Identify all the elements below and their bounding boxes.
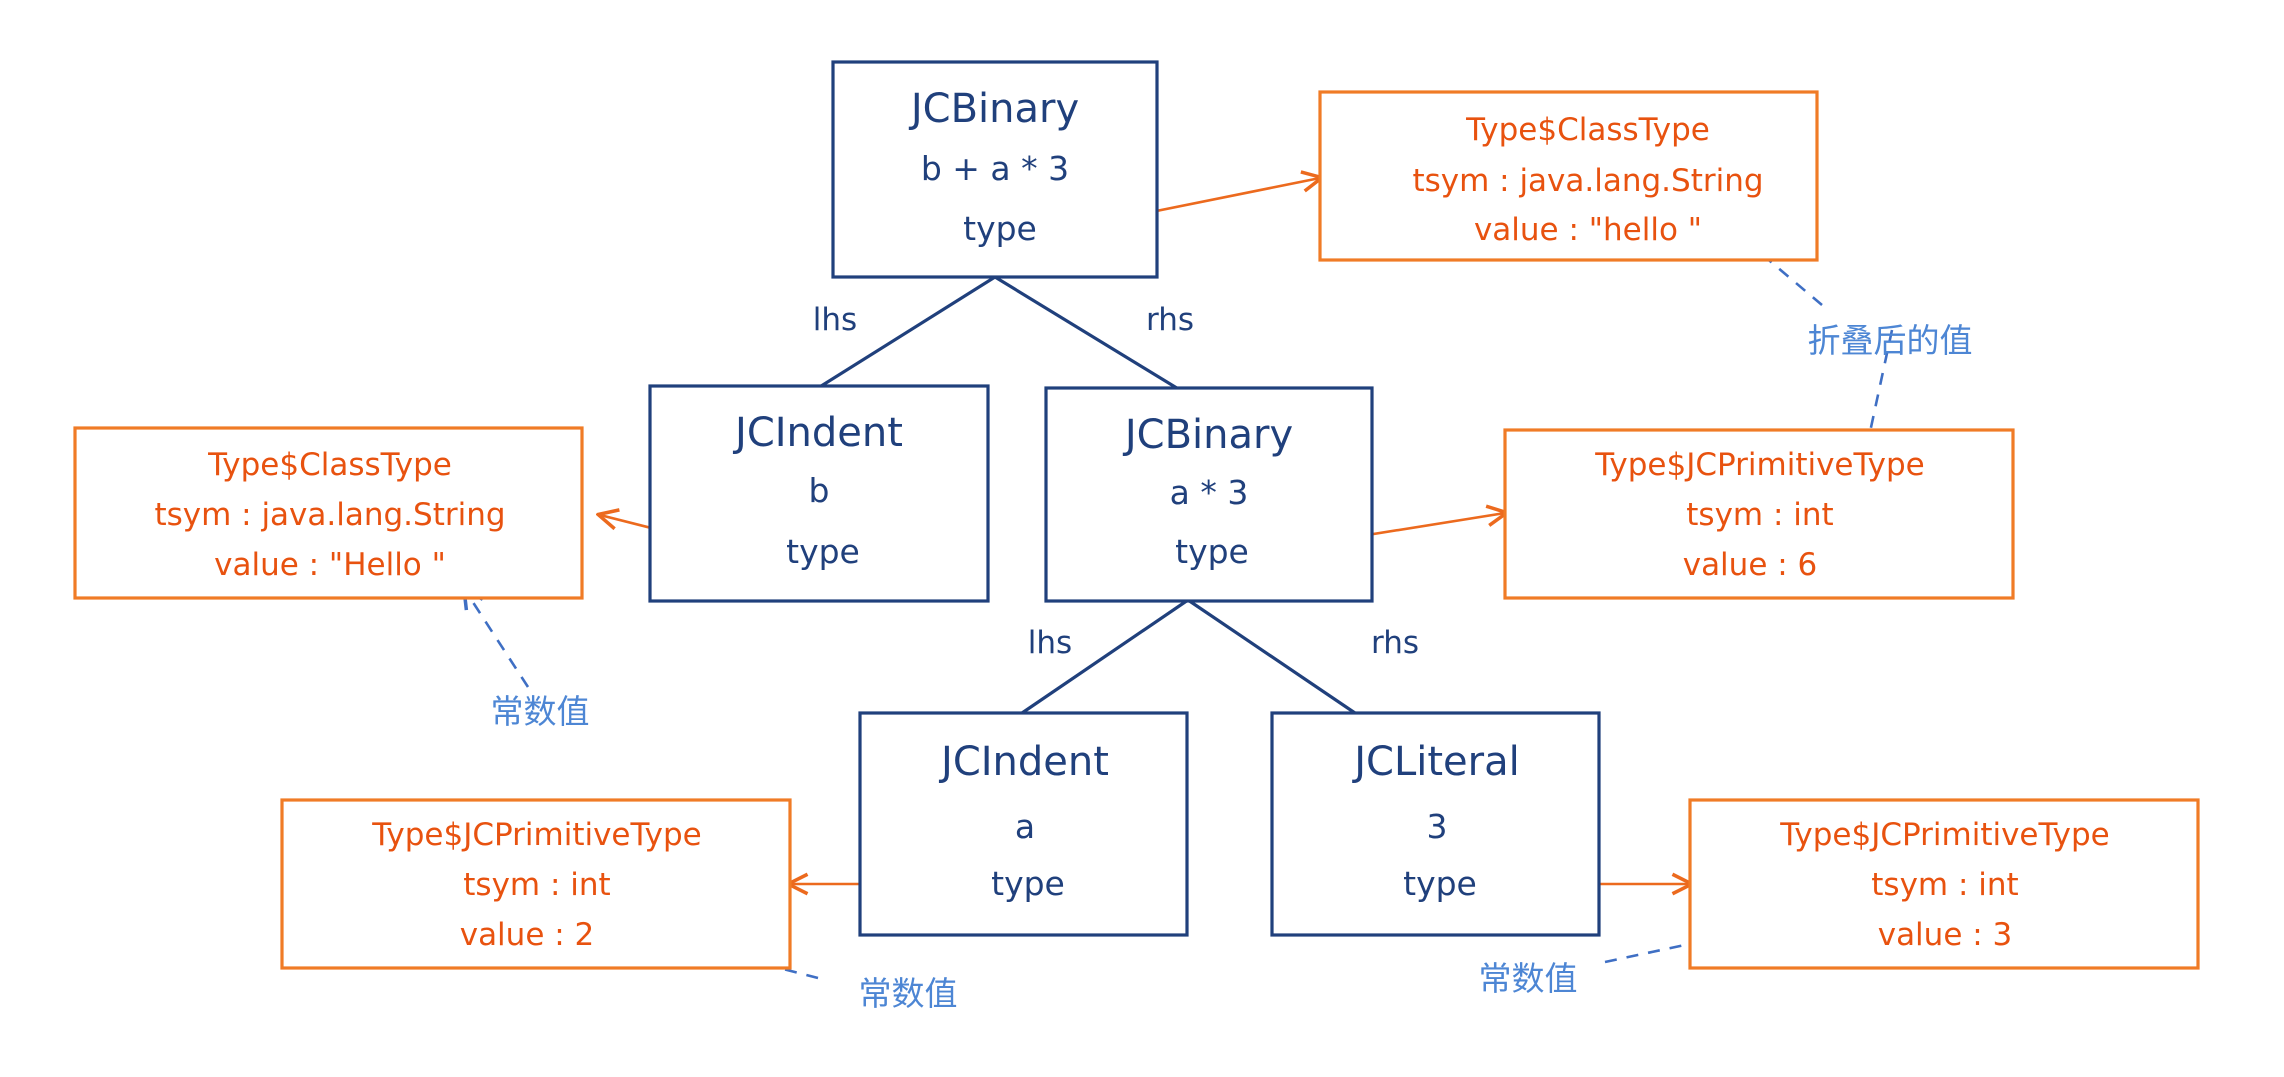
type-tsym-leaf-literal: tsym : int xyxy=(1871,867,2018,903)
ast-diagram-svg: lhs rhs lhs rhs xyxy=(0,0,2284,1077)
ast-node-leaf-literal[interactable]: JCLiteral 3 type xyxy=(1272,713,1599,935)
note-label-const-bottom-right: 常数值 xyxy=(1479,959,1578,998)
type-kind-mid-binary: Type$JCPrimitiveType xyxy=(1594,447,1924,483)
note-label-folded: 折叠后的值 xyxy=(1808,321,1973,360)
node-title-root-binary: JCBinary xyxy=(908,86,1079,132)
ast-diagram-canvas: lhs rhs lhs rhs xyxy=(0,0,2284,1077)
type-value-leaf-indent: value : 2 xyxy=(460,917,595,953)
node-field-leaf-indent[interactable]: type xyxy=(991,864,1065,903)
type-box-mid-binary[interactable]: Type$JCPrimitiveType tsym : int value : … xyxy=(1505,430,2013,598)
node-field-root-binary[interactable]: type xyxy=(963,209,1037,248)
node-expr-root-binary: b + a * 3 xyxy=(921,149,1069,188)
node-title-leaf-literal: JCLiteral xyxy=(1351,739,1520,785)
type-tsym-leaf-indent: tsym : int xyxy=(463,867,610,903)
type-kind-leaf-indent: Type$JCPrimitiveType xyxy=(371,817,701,853)
type-tsym-mid-binary: tsym : int xyxy=(1686,497,1833,533)
type-tsym-root: tsym : java.lang.String xyxy=(1412,163,1763,199)
note-label-const-bottom-left: 常数值 xyxy=(859,974,958,1013)
node-field-mid-indent[interactable]: type xyxy=(786,532,860,571)
ast-node-root-binary[interactable]: JCBinary b + a * 3 type xyxy=(833,62,1157,277)
type-kind-root: Type$ClassType xyxy=(1465,112,1710,148)
edge-label-root-lhs: lhs xyxy=(813,302,857,338)
type-box-root[interactable]: Type$ClassType tsym : java.lang.String v… xyxy=(1320,92,1817,260)
ast-node-mid-indent[interactable]: JCIndent b type xyxy=(650,386,988,601)
type-value-mid-indent: value : "Hello " xyxy=(214,547,446,583)
node-title-mid-binary: JCBinary xyxy=(1122,412,1293,458)
node-field-leaf-literal[interactable]: type xyxy=(1403,864,1477,903)
type-kind-leaf-literal: Type$JCPrimitiveType xyxy=(1779,817,2109,853)
node-expr-leaf-indent: a xyxy=(1015,807,1035,846)
node-title-leaf-indent: JCIndent xyxy=(938,739,1109,785)
type-box-leaf-literal[interactable]: Type$JCPrimitiveType tsym : int value : … xyxy=(1690,800,2198,968)
ast-node-mid-binary[interactable]: JCBinary a * 3 type xyxy=(1046,388,1372,601)
node-expr-mid-binary: a * 3 xyxy=(1170,473,1249,512)
note-arrow-const-to-hello xyxy=(465,590,528,687)
type-box-mid-indent[interactable]: Type$ClassType tsym : java.lang.String v… xyxy=(75,428,582,598)
type-value-mid-binary: value : 6 xyxy=(1683,547,1818,583)
type-value-root: value : "hello " xyxy=(1474,212,1702,248)
edge-label-root-rhs: rhs xyxy=(1146,302,1194,338)
type-tsym-mid-indent: tsym : java.lang.String xyxy=(154,497,505,533)
node-field-mid-binary[interactable]: type xyxy=(1175,532,1249,571)
type-box-leaf-indent[interactable]: Type$JCPrimitiveType tsym : int value : … xyxy=(282,800,790,968)
type-kind-mid-indent: Type$ClassType xyxy=(207,447,452,483)
edge-label-mid-rhs: rhs xyxy=(1371,625,1419,661)
node-expr-leaf-literal: 3 xyxy=(1427,807,1448,846)
node-expr-mid-indent: b xyxy=(809,471,830,510)
node-title-mid-indent: JCIndent xyxy=(732,410,903,456)
edge-mid-rhs xyxy=(1188,600,1355,713)
edge-label-mid-lhs: lhs xyxy=(1028,625,1072,661)
type-value-leaf-literal: value : 3 xyxy=(1878,917,2013,953)
ast-node-leaf-indent[interactable]: JCIndent a type xyxy=(860,713,1187,935)
note-label-const-left: 常数值 xyxy=(491,692,590,731)
